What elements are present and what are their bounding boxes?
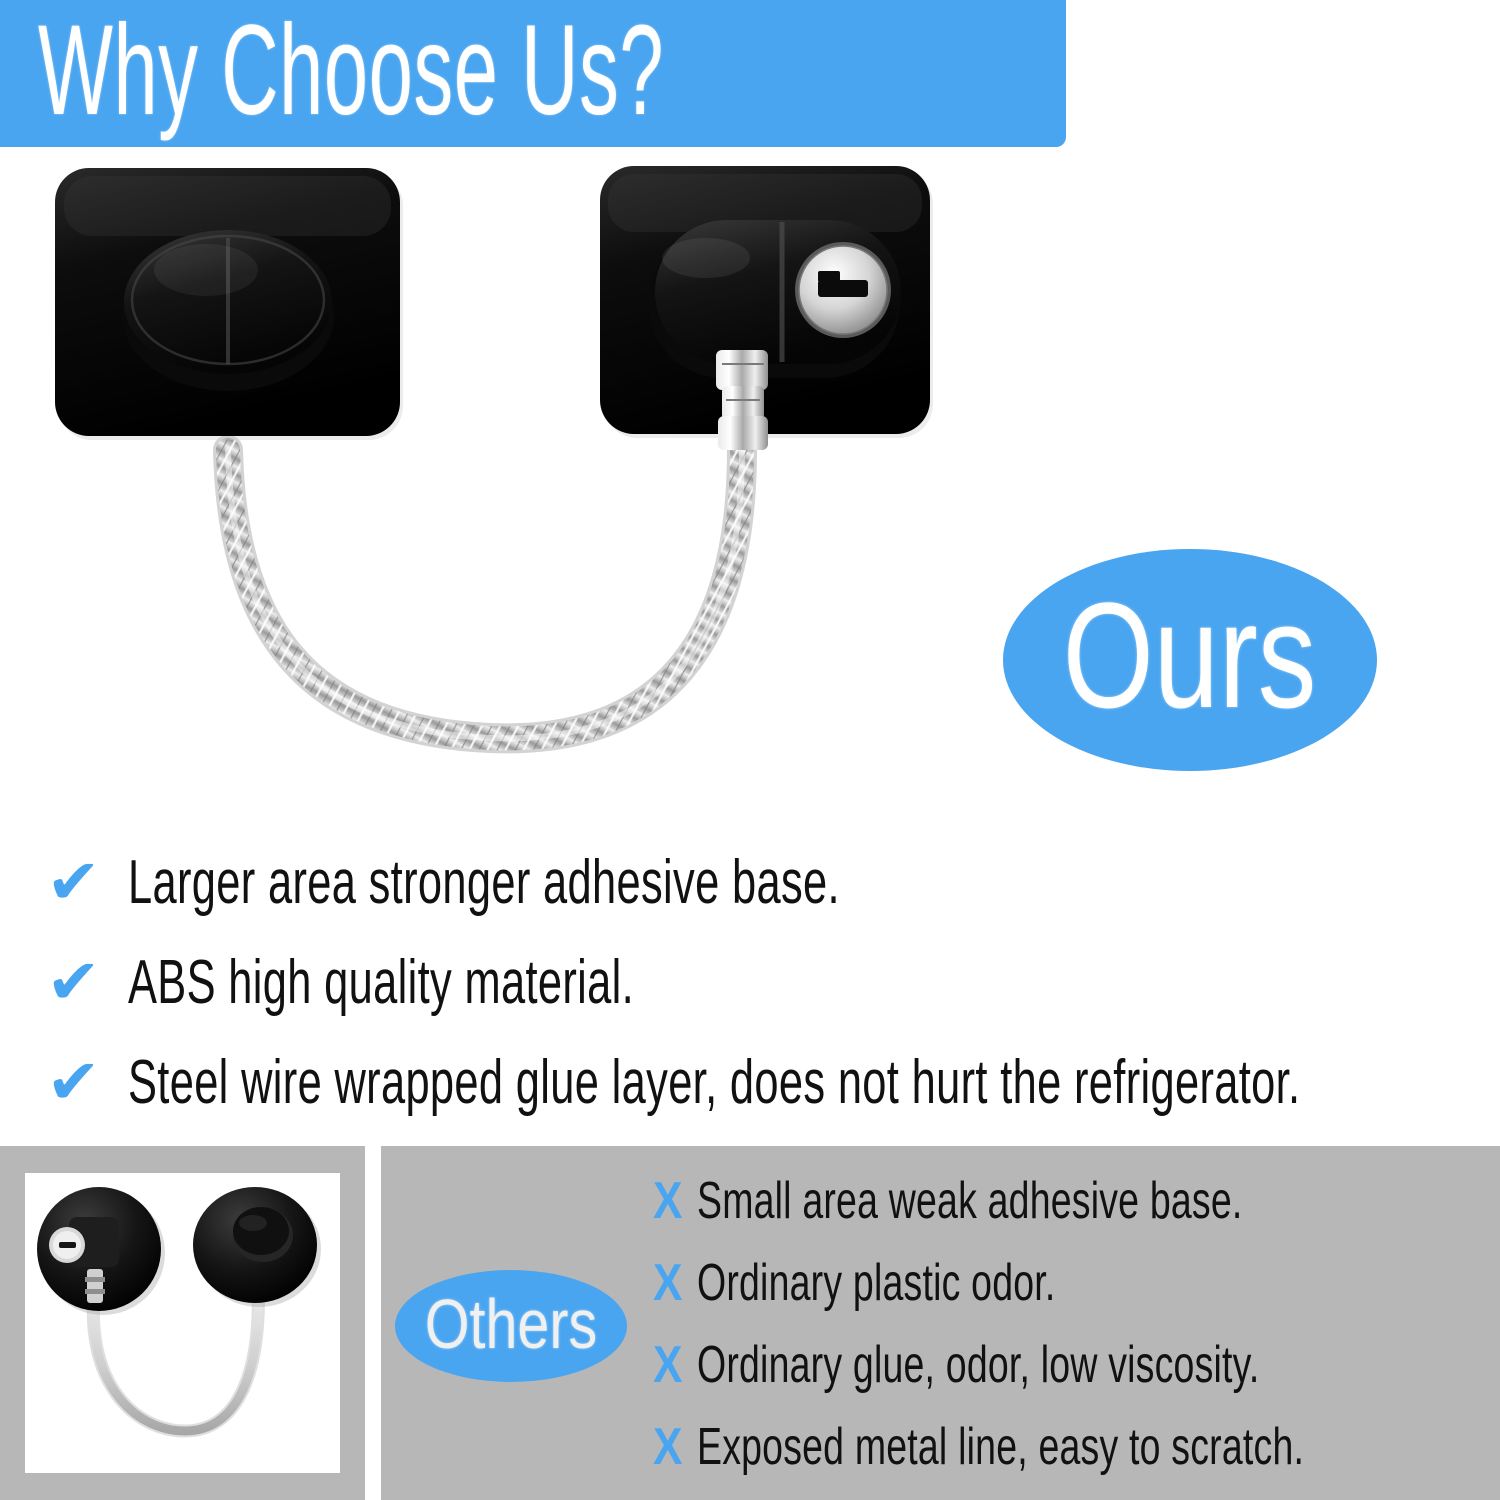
cross-icon: X [653, 1175, 690, 1227]
list-item: X Exposed metal line, easy to scratch. [653, 1406, 1500, 1488]
competitor-left-disc [37, 1187, 165, 1315]
list-item: ✔ Larger area stronger adhesive base. [40, 833, 1480, 933]
list-item: ✔ ABS high quality material. [40, 933, 1480, 1033]
pros-list: ✔ Larger area stronger adhesive base. ✔ … [40, 833, 1480, 1133]
hero-product-image [0, 150, 1000, 790]
con-item-label: Small area weak adhesive base. [697, 1175, 1243, 1227]
cross-icon: X [653, 1339, 690, 1391]
competitor-photo [25, 1173, 340, 1473]
list-item: X Ordinary plastic odor. [653, 1242, 1500, 1324]
con-item-label: Ordinary plastic odor. [697, 1257, 1056, 1309]
product-illustration [0, 150, 1000, 790]
ours-badge: Ours [1003, 549, 1377, 771]
competitor-illustration [25, 1173, 340, 1473]
cross-icon: X [653, 1421, 690, 1473]
check-icon: ✔ [38, 1052, 130, 1114]
pro-item-label: ABS high quality material. [128, 952, 634, 1014]
left-adhesive-pad [55, 168, 403, 440]
cross-icon: X [653, 1257, 690, 1309]
pro-item-label: Steel wire wrapped glue layer, does not … [128, 1052, 1300, 1114]
list-item: X Ordinary glue, odor, low viscosity. [653, 1324, 1500, 1406]
pro-item-label: Larger area stronger adhesive base. [128, 852, 840, 914]
others-badge: Others [395, 1270, 627, 1382]
list-item: X Small area weak adhesive base. [653, 1160, 1500, 1242]
others-badge-label: Others [425, 1289, 597, 1359]
steel-wire-cable [228, 450, 742, 738]
competitor-photo-panel [0, 1146, 365, 1500]
check-icon: ✔ [38, 952, 130, 1014]
header-banner: Why Choose Us? [0, 0, 1066, 147]
page-title: Why Choose Us? [38, 7, 664, 135]
competitor-cons-panel: Others X Small area weak adhesive base. … [381, 1146, 1500, 1500]
cons-list: X Small area weak adhesive base. X Ordin… [653, 1160, 1500, 1488]
infographic-canvas: Why Choose Us? [0, 0, 1500, 1500]
con-item-label: Exposed metal line, easy to scratch. [697, 1421, 1304, 1473]
list-item: ✔ Steel wire wrapped glue layer, does no… [40, 1033, 1480, 1133]
right-lock-pad [600, 166, 933, 450]
competitor-right-disc [193, 1187, 321, 1307]
cable-connector [716, 350, 768, 450]
ours-badge-label: Ours [1063, 580, 1317, 730]
con-item-label: Ordinary glue, odor, low viscosity. [697, 1339, 1259, 1391]
check-icon: ✔ [38, 852, 130, 914]
